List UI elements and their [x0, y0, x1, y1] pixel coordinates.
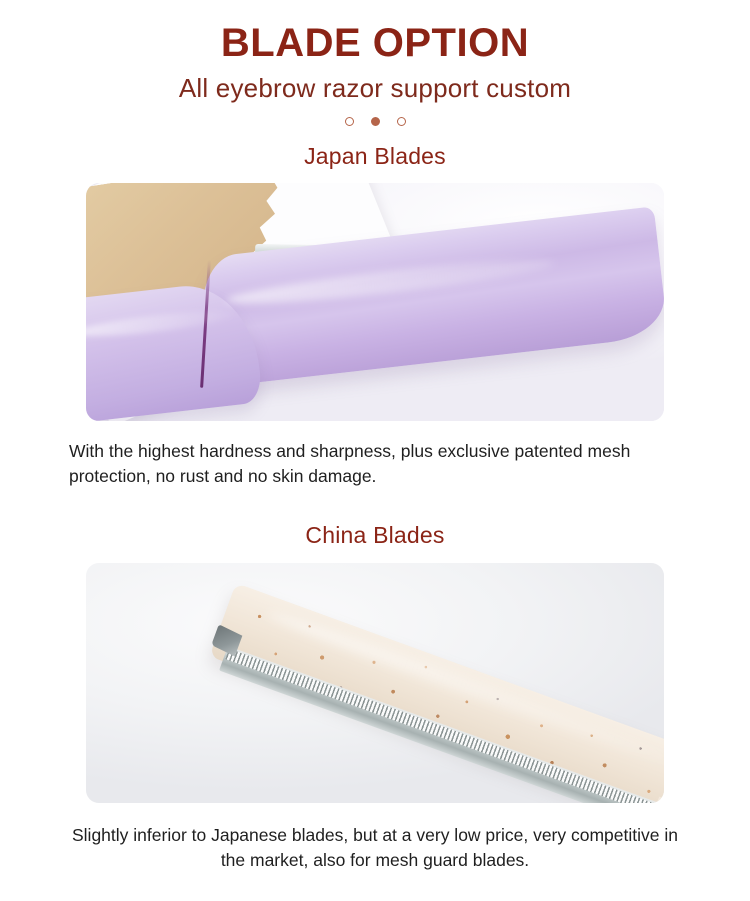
- caption-japan-blades: With the highest hardness and sharpness,…: [65, 439, 685, 490]
- caption-china-blades: Slightly inferior to Japanese blades, bu…: [65, 823, 685, 874]
- pagination-dot-1[interactable]: [345, 117, 354, 126]
- page-subtitle: All eyebrow razor support custom: [0, 73, 750, 104]
- product-detail-page: BLADE OPTION All eyebrow razor support c…: [0, 0, 750, 901]
- section-heading-japan-blades: Japan Blades: [0, 143, 750, 170]
- pagination-dot-2-active[interactable]: [371, 117, 380, 126]
- pagination-dot-3[interactable]: [397, 117, 406, 126]
- page-header: BLADE OPTION All eyebrow razor support c…: [0, 0, 750, 126]
- pagination-dots: [0, 117, 750, 126]
- section-heading-china-blades: China Blades: [0, 522, 750, 549]
- product-photo-china-blades: [86, 563, 664, 803]
- page-title: BLADE OPTION: [0, 22, 750, 64]
- product-photo-japan-blades: [86, 183, 664, 421]
